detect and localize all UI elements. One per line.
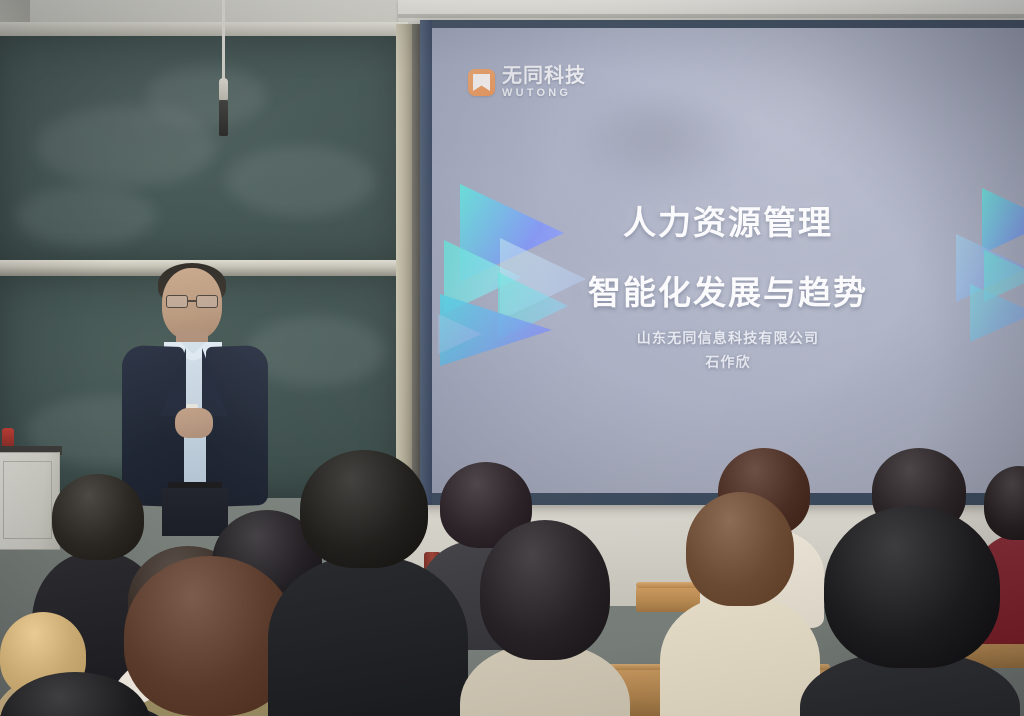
slide-subtitle-presenter: 石作欣 (432, 352, 1024, 372)
chalkboard-top-rail (0, 22, 408, 36)
cord-weight (219, 100, 228, 136)
classroom-photo-scene: 无同科技 WUTONG 人力资源管理 智能化发展与趋势 山东无同信息科技有限公司… (0, 0, 1024, 716)
wutong-bookmark-logo-icon (468, 69, 495, 96)
logo-english-name: WUTONG (502, 88, 586, 99)
presenter-trousers (162, 488, 228, 536)
attendee-leather-jacket-man-body (268, 556, 468, 716)
red-object-on-podium (2, 428, 14, 448)
cord-grip (219, 78, 228, 102)
attendee-front-right-man-head (824, 506, 1000, 668)
slide-logo: 无同科技 WUTONG (468, 66, 586, 99)
slide-title-line-2: 智能化发展与趋势 (432, 266, 1024, 314)
attendee-cream-hoodie-body (660, 596, 820, 716)
slide-subtitle-company: 山东无同信息科技有限公司 (432, 328, 1024, 348)
slide-title-line-1: 人力资源管理 (432, 196, 1024, 244)
presenter-hands (175, 408, 213, 438)
presenter (118, 268, 274, 530)
podium-cabinet (0, 452, 60, 550)
chalkboard-upper-panel (0, 36, 400, 264)
projection-screen: 无同科技 WUTONG 人力资源管理 智能化发展与趋势 山东无同信息科技有限公司… (432, 28, 1024, 493)
eyeglasses-icon (166, 295, 218, 306)
attendee-left-dark-hair-head (52, 474, 144, 560)
attendee-cream-hoodie-head (686, 492, 794, 606)
attendee-center-ponytail-head (480, 520, 610, 660)
logo-chinese-name: 无同科技 (502, 66, 586, 86)
attendee-leather-jacket-man-head (300, 450, 428, 568)
